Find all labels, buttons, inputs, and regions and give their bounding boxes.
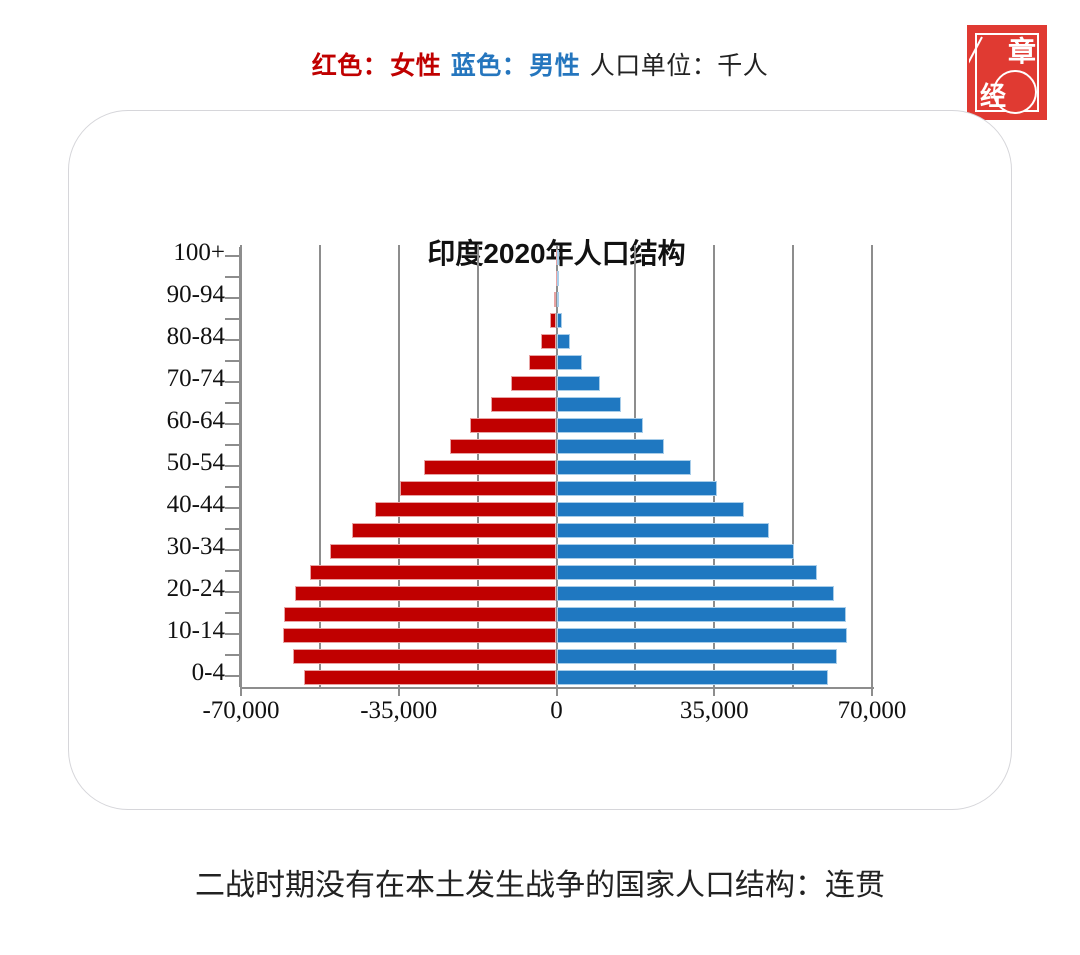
bar-male-15-19 <box>557 607 846 622</box>
x-axis-label--70,000: -70,000 <box>151 697 331 725</box>
bar-male-60-64 <box>557 418 644 433</box>
y-axis-tick <box>225 402 239 404</box>
x-axis-tick <box>240 687 242 696</box>
bar-male-25-29 <box>557 565 817 580</box>
y-axis-label-60-64: 60-64 <box>125 407 225 435</box>
table-row <box>241 292 872 308</box>
table-row <box>241 334 872 350</box>
x-axis-label-70,000: 70,000 <box>782 697 962 725</box>
y-axis-tick <box>225 339 239 341</box>
x-axis-tick <box>713 687 715 696</box>
table-row <box>241 565 872 581</box>
y-axis-tick <box>225 654 239 656</box>
x-axis-label--35,000: -35,000 <box>309 697 489 725</box>
y-axis-label-20-24: 20-24 <box>125 575 225 603</box>
y-axis-tick <box>225 633 239 635</box>
bar-female-0-4 <box>304 670 556 685</box>
y-axis-label-100+: 100+ <box>125 239 225 267</box>
bar-female-10-14 <box>283 628 557 643</box>
y-axis-tick <box>225 318 239 320</box>
bar-female-40-44 <box>375 502 556 517</box>
y-axis-tick <box>225 486 239 488</box>
bar-female-60-64 <box>470 418 557 433</box>
y-axis-tick <box>225 423 239 425</box>
y-axis-tick <box>225 507 239 509</box>
table-row <box>241 460 872 476</box>
x-axis-tick <box>398 687 400 696</box>
y-axis-label-10-14: 10-14 <box>125 617 225 645</box>
table-row <box>241 355 872 371</box>
bar-male-100+ <box>557 250 559 265</box>
table-row <box>241 271 872 287</box>
bar-male-85-89 <box>557 313 563 328</box>
y-axis-tick <box>225 276 239 278</box>
table-row <box>241 649 872 665</box>
bar-female-65-69 <box>491 397 556 412</box>
x-axis-label-0: 0 <box>467 697 647 725</box>
y-axis-tick <box>225 360 239 362</box>
bar-female-80-84 <box>541 334 557 349</box>
y-axis-label-70-74: 70-74 <box>125 365 225 393</box>
table-row <box>241 397 872 413</box>
y-axis-tick <box>225 591 239 593</box>
x-axis-tick <box>556 687 558 696</box>
table-row <box>241 418 872 434</box>
y-axis-label-30-34: 30-34 <box>125 533 225 561</box>
bar-female-5-9 <box>293 649 556 664</box>
plot-area <box>241 245 872 687</box>
bar-male-80-84 <box>557 334 571 349</box>
y-axis-tick <box>225 549 239 551</box>
figure-caption: 二战时期没有在本土发生战争的国家人口结构：连贯 <box>0 860 1080 904</box>
bar-male-30-34 <box>557 544 794 559</box>
x-axis-line <box>241 687 874 689</box>
y-axis-tick <box>225 297 239 299</box>
bar-female-25-29 <box>310 565 556 580</box>
bar-female-20-24 <box>295 586 556 601</box>
y-axis-label-40-44: 40-44 <box>125 491 225 519</box>
table-row <box>241 544 872 560</box>
y-axis-tick <box>225 444 239 446</box>
bar-male-65-69 <box>557 397 621 412</box>
bar-female-70-74 <box>511 376 557 391</box>
bar-female-55-59 <box>450 439 556 454</box>
bar-female-35-39 <box>352 523 556 538</box>
y-axis-label-0-4: 0-4 <box>125 659 225 687</box>
bar-male-20-24 <box>557 586 835 601</box>
bar-female-30-34 <box>330 544 556 559</box>
table-row <box>241 439 872 455</box>
y-axis-labels: 0-410-1420-2430-3440-4450-5460-6470-7480… <box>120 0 225 955</box>
bar-male-55-59 <box>557 439 665 454</box>
y-axis-label-90-94: 90-94 <box>125 281 225 309</box>
y-axis-tick <box>225 255 239 257</box>
table-row <box>241 670 872 686</box>
y-axis-tick <box>225 465 239 467</box>
x-axis-label-35,000: 35,000 <box>624 697 804 725</box>
y-axis-tick <box>225 612 239 614</box>
table-row <box>241 313 872 329</box>
bar-female-50-54 <box>424 460 556 475</box>
bar-male-0-4 <box>557 670 828 685</box>
bar-male-95-99 <box>557 271 559 286</box>
y-axis-label-80-84: 80-84 <box>125 323 225 351</box>
x-axis-tick <box>871 687 873 696</box>
table-row <box>241 628 872 644</box>
table-row <box>241 481 872 497</box>
bar-male-90-94 <box>557 292 559 307</box>
bar-male-5-9 <box>557 649 838 664</box>
table-row <box>241 586 872 602</box>
bar-male-10-14 <box>557 628 848 643</box>
bar-female-45-49 <box>400 481 556 496</box>
table-row <box>241 607 872 623</box>
bar-male-45-49 <box>557 481 717 496</box>
y-axis-tick <box>225 570 239 572</box>
bar-female-85-89 <box>550 313 557 328</box>
bar-male-75-79 <box>557 355 583 370</box>
y-axis-label-50-54: 50-54 <box>125 449 225 477</box>
table-row <box>241 502 872 518</box>
y-axis-tick <box>225 528 239 530</box>
table-row <box>241 250 872 266</box>
table-row <box>241 523 872 539</box>
bar-male-50-54 <box>557 460 692 475</box>
bar-male-70-74 <box>557 376 601 391</box>
population-pyramid-chart: 印度2020年人口结构 0-410-1420-2430-3440-4450-54… <box>0 0 1080 955</box>
bar-female-15-19 <box>284 607 556 622</box>
table-row <box>241 376 872 392</box>
bar-male-40-44 <box>557 502 744 517</box>
bar-female-75-79 <box>529 355 557 370</box>
bar-male-35-39 <box>557 523 770 538</box>
y-axis-tick <box>225 381 239 383</box>
y-axis-tick <box>225 675 239 677</box>
